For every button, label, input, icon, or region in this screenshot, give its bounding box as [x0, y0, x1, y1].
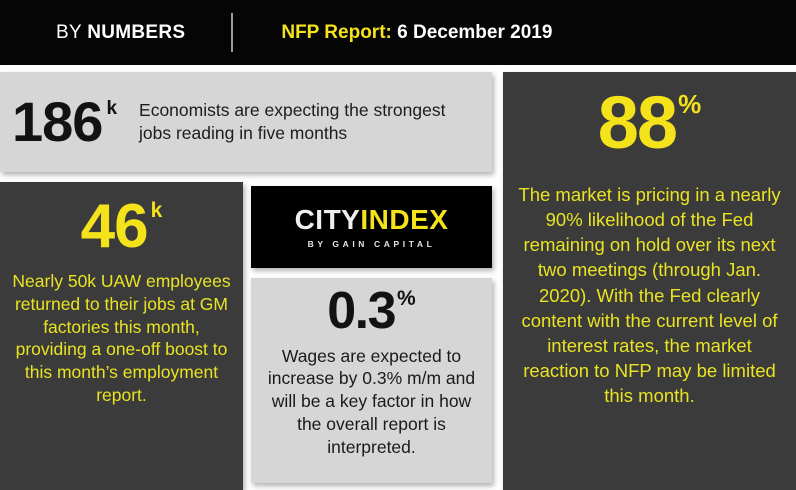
stat-description-uaw: Nearly 50k UAW employees returned to the…	[12, 270, 231, 407]
stat-value-fed: 88%	[598, 86, 701, 160]
stat-card-uaw: 46k Nearly 50k UAW employees returned to…	[0, 182, 243, 490]
report-date: 6 December 2019	[392, 22, 553, 43]
stat-description-fed: The market is pricing in a nearly 90% li…	[517, 182, 782, 408]
stat-card-jobs: 186k Economists are expecting the strong…	[0, 72, 492, 172]
report-label: NFP Report:	[281, 22, 391, 43]
brand-name-second: INDEX	[360, 204, 448, 235]
brand-tagline: BY GAIN CAPITAL	[308, 240, 436, 249]
page-title: BY NUMBERS	[56, 22, 185, 44]
page-title-main: NUMBERS	[87, 22, 185, 43]
report-heading: NFP Report: 6 December 2019	[281, 22, 552, 44]
stat-value-jobs: 186k	[12, 94, 117, 150]
stat-unit-wages: %	[397, 288, 416, 310]
stat-unit-jobs: k	[106, 99, 117, 118]
stat-number-jobs: 186	[12, 94, 102, 150]
stat-value-wages: 0.3%	[327, 284, 415, 339]
header-bar: BY NUMBERS NFP Report: 6 December 2019	[0, 0, 796, 65]
stat-card-fed: 88% The market is pricing in a nearly 90…	[503, 72, 796, 490]
page-title-prefix: BY	[56, 22, 87, 43]
infographic-page: BY NUMBERS NFP Report: 6 December 2019 1…	[0, 0, 796, 490]
stat-number-wages: 0.3	[327, 284, 395, 339]
header-divider	[231, 13, 233, 52]
brand-logo-icon: CITYINDEX	[295, 206, 449, 234]
stat-number-fed: 88	[598, 86, 676, 160]
stat-value-uaw: 46k	[81, 196, 163, 258]
brand-logo-card: CITYINDEX BY GAIN CAPITAL	[251, 186, 492, 268]
stat-unit-uaw: k	[151, 200, 163, 221]
stat-unit-fed: %	[678, 91, 701, 117]
stat-number-uaw: 46	[81, 196, 148, 258]
stat-description-jobs: Economists are expecting the strongest j…	[139, 99, 478, 146]
brand-name-first: CITY	[295, 204, 361, 235]
stat-description-wages: Wages are expected to increase by 0.3% m…	[261, 345, 482, 459]
stat-card-wages: 0.3% Wages are expected to increase by 0…	[251, 278, 492, 483]
